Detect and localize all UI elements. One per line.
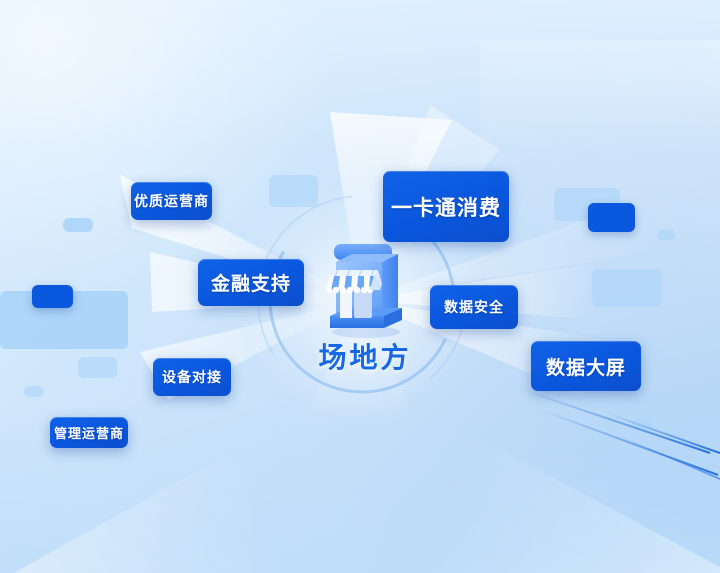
center-title: 场地方: [300, 336, 430, 376]
speed-line-4: [616, 435, 720, 479]
deco-11: [632, 418, 653, 430]
node-chip-guanli-yunyingshang[interactable]: 管理运营商: [50, 417, 128, 448]
diagonal-speed-lines: [520, 383, 720, 503]
speed-line-1: [520, 389, 710, 453]
background-top-wash: [0, 0, 720, 150]
node-chip-shuju-anquan[interactable]: 数据安全: [430, 285, 518, 329]
deco-10: [592, 269, 662, 307]
deco-2: [0, 291, 128, 349]
deco-8: [588, 203, 635, 232]
background-facet-bottomright: [320, 353, 720, 573]
speed-line-2: [538, 409, 718, 475]
infographic-canvas: 场地方 优质运营商金融支持设备对接管理运营商一卡通消费数据安全数据大屏: [0, 0, 720, 573]
deco-6: [24, 386, 44, 397]
deco-3: [32, 285, 73, 308]
speed-line-3: [606, 413, 720, 453]
node-chip-jinrong-zhichi[interactable]: 金融支持: [198, 259, 304, 306]
deco-4: [269, 175, 318, 207]
node-chip-youzhi-yunyingshang[interactable]: 优质运营商: [131, 182, 212, 220]
deco-9: [657, 230, 676, 240]
deco-5: [78, 357, 117, 378]
node-chip-yikatong-xiaofei[interactable]: 一卡通消费: [383, 171, 509, 242]
deco-7: [554, 188, 620, 221]
deco-1: [63, 218, 93, 232]
storefront-icon: [312, 240, 416, 340]
background-glow-topleft: [0, 0, 340, 300]
node-chip-shebei-duijie[interactable]: 设备对接: [153, 358, 231, 396]
node-chip-shuju-daping[interactable]: 数据大屏: [531, 341, 641, 391]
